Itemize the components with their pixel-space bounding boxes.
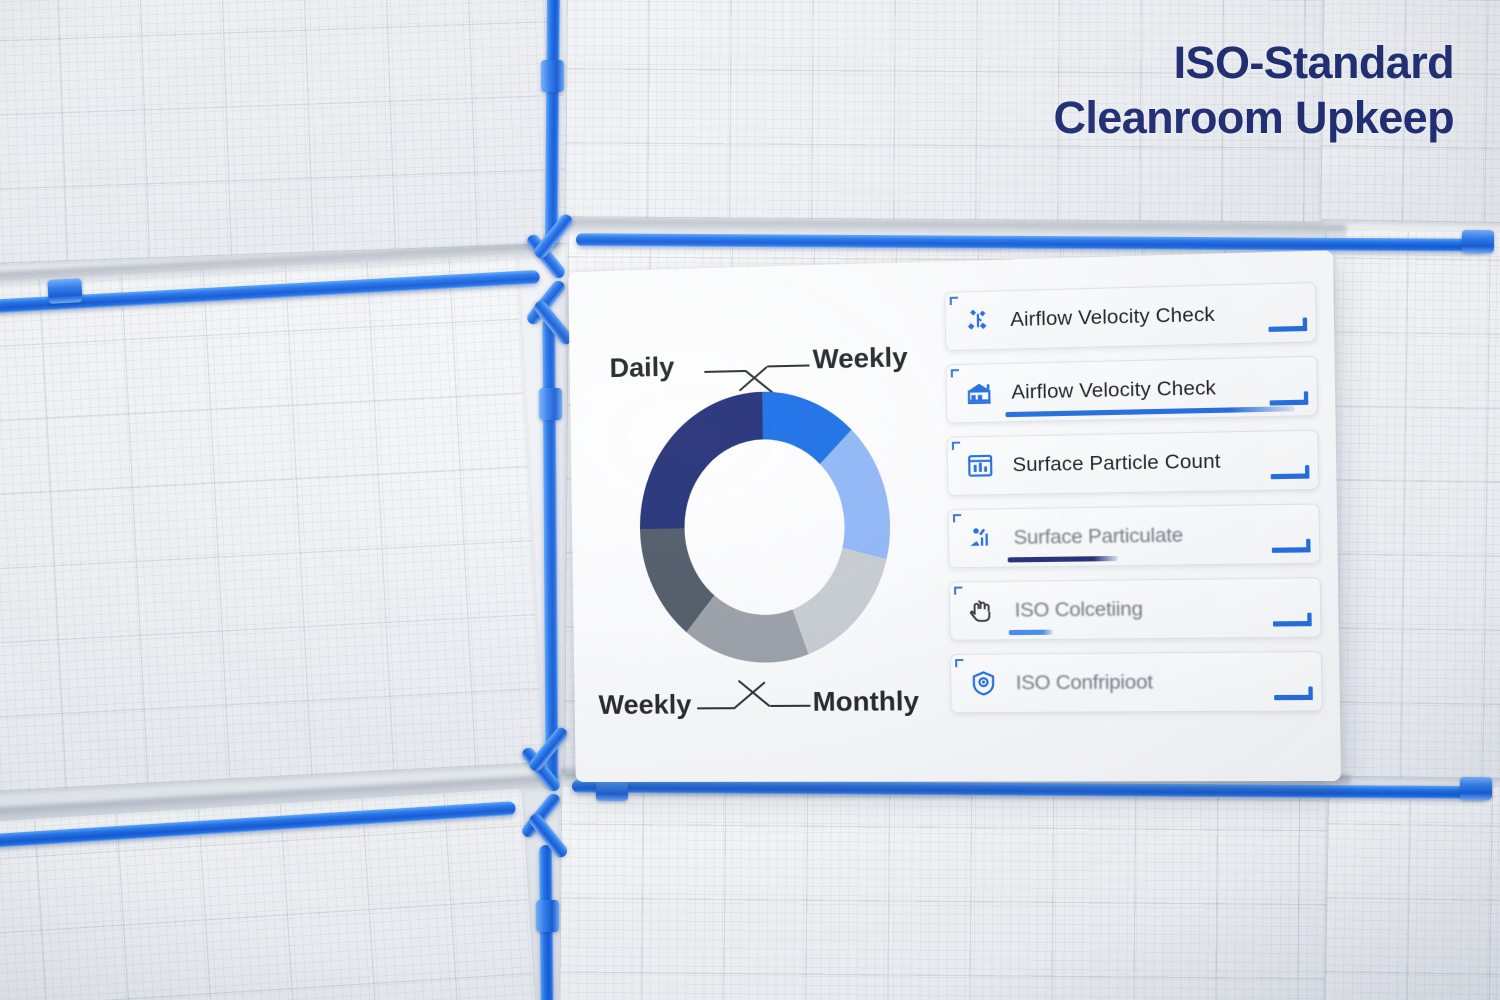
checklist-item-label: ISO Confripioot <box>1016 670 1153 695</box>
checklist-item[interactable]: Airflow Velocity Check <box>944 282 1317 351</box>
checklist-item-end-tick <box>1273 621 1312 627</box>
pipe-collar <box>541 60 564 92</box>
corner-marker-icon <box>954 587 962 595</box>
donut-leader-line <box>704 370 747 373</box>
donut-callout-weekly-top: Weekly <box>812 342 908 376</box>
wall-tile <box>1324 784 1500 1000</box>
donut-leader-line <box>734 681 766 709</box>
checklist-item-label: Airflow Velocity Check <box>1010 303 1215 332</box>
checklist-item-label: Surface Particle Count <box>1012 450 1220 477</box>
donut-leader-line <box>770 705 811 708</box>
compliance-shield-icon <box>966 666 1002 701</box>
donut-callout-weekly-bottom: Weekly <box>598 689 691 721</box>
checklist-item-end-tick <box>1270 400 1309 406</box>
corner-marker-icon <box>952 442 960 450</box>
donut-leader-line <box>697 707 735 710</box>
checklist: Airflow Velocity CheckAirflow Velocity C… <box>944 282 1323 727</box>
pipe-collar <box>536 900 559 932</box>
wall-tile <box>559 787 1331 1000</box>
surface-swab-icon <box>963 521 999 556</box>
checklist-item[interactable]: Surface Particulate <box>948 503 1321 568</box>
donut-segment-daily-5[interactable] <box>638 392 764 529</box>
checklist-item-progress-bar <box>1005 406 1294 417</box>
donut-leader-line <box>738 679 771 707</box>
checklist-item[interactable]: Airflow Velocity Check <box>945 356 1318 424</box>
wall-tile <box>1318 230 1500 779</box>
checklist-item[interactable]: ISO Colcetiing <box>949 577 1322 641</box>
checklist-item-end-tick <box>1274 695 1313 700</box>
donut-ring <box>638 389 892 663</box>
title-line-1: ISO-Standard <box>1054 36 1455 91</box>
checklist-item[interactable]: ISO Confripioot <box>950 651 1323 713</box>
cleanroom-facility-icon <box>961 375 997 410</box>
checklist-item-end-tick <box>1271 473 1310 479</box>
corner-marker-icon <box>951 369 959 377</box>
pipe-collar <box>1462 230 1494 253</box>
donut-callout-monthly: Monthly <box>812 686 919 718</box>
pipe-collar <box>47 278 82 304</box>
corner-marker-icon <box>955 659 963 667</box>
donut-leader-line <box>767 364 810 367</box>
checklist-item[interactable]: Surface Particle Count <box>947 430 1320 496</box>
pipe-vertical-center <box>545 0 560 246</box>
particle-chart-icon <box>962 448 998 483</box>
checklist-item-end-tick <box>1272 547 1311 553</box>
page-title: ISO-Standard Cleanroom Upkeep <box>1054 36 1455 146</box>
donut-callout-daily: Daily <box>609 352 674 385</box>
corner-marker-icon <box>950 297 958 305</box>
dashboard-panel: Daily Weekly Weekly Monthly <box>568 250 1341 782</box>
donut-segment-monthly-2[interactable] <box>792 547 888 654</box>
pipe-collar <box>1460 777 1492 800</box>
checklist-item-end-tick <box>1268 326 1307 332</box>
airflow-nodes-icon <box>960 303 996 339</box>
gloved-hand-icon <box>964 593 1000 628</box>
title-line-2: Cleanroom Upkeep <box>1054 91 1455 146</box>
pipe-collar <box>539 388 562 420</box>
checklist-item-progress-bar <box>1009 630 1053 636</box>
checklist-item-label: Airflow Velocity Check <box>1011 376 1216 404</box>
wall-tile <box>0 254 543 793</box>
corner-marker-icon <box>953 514 961 522</box>
cleanroom-scene: ISO-Standard Cleanroom Upkeep Daily Week… <box>0 0 1500 1000</box>
donut-chart: Daily Weekly Weekly Monthly <box>587 298 939 748</box>
checklist-item-progress-bar <box>1008 556 1118 563</box>
checklist-item-label: Surface Particulate <box>1013 524 1183 550</box>
wall-tile <box>0 0 569 264</box>
checklist-item-label: ISO Colcetiing <box>1015 597 1143 622</box>
